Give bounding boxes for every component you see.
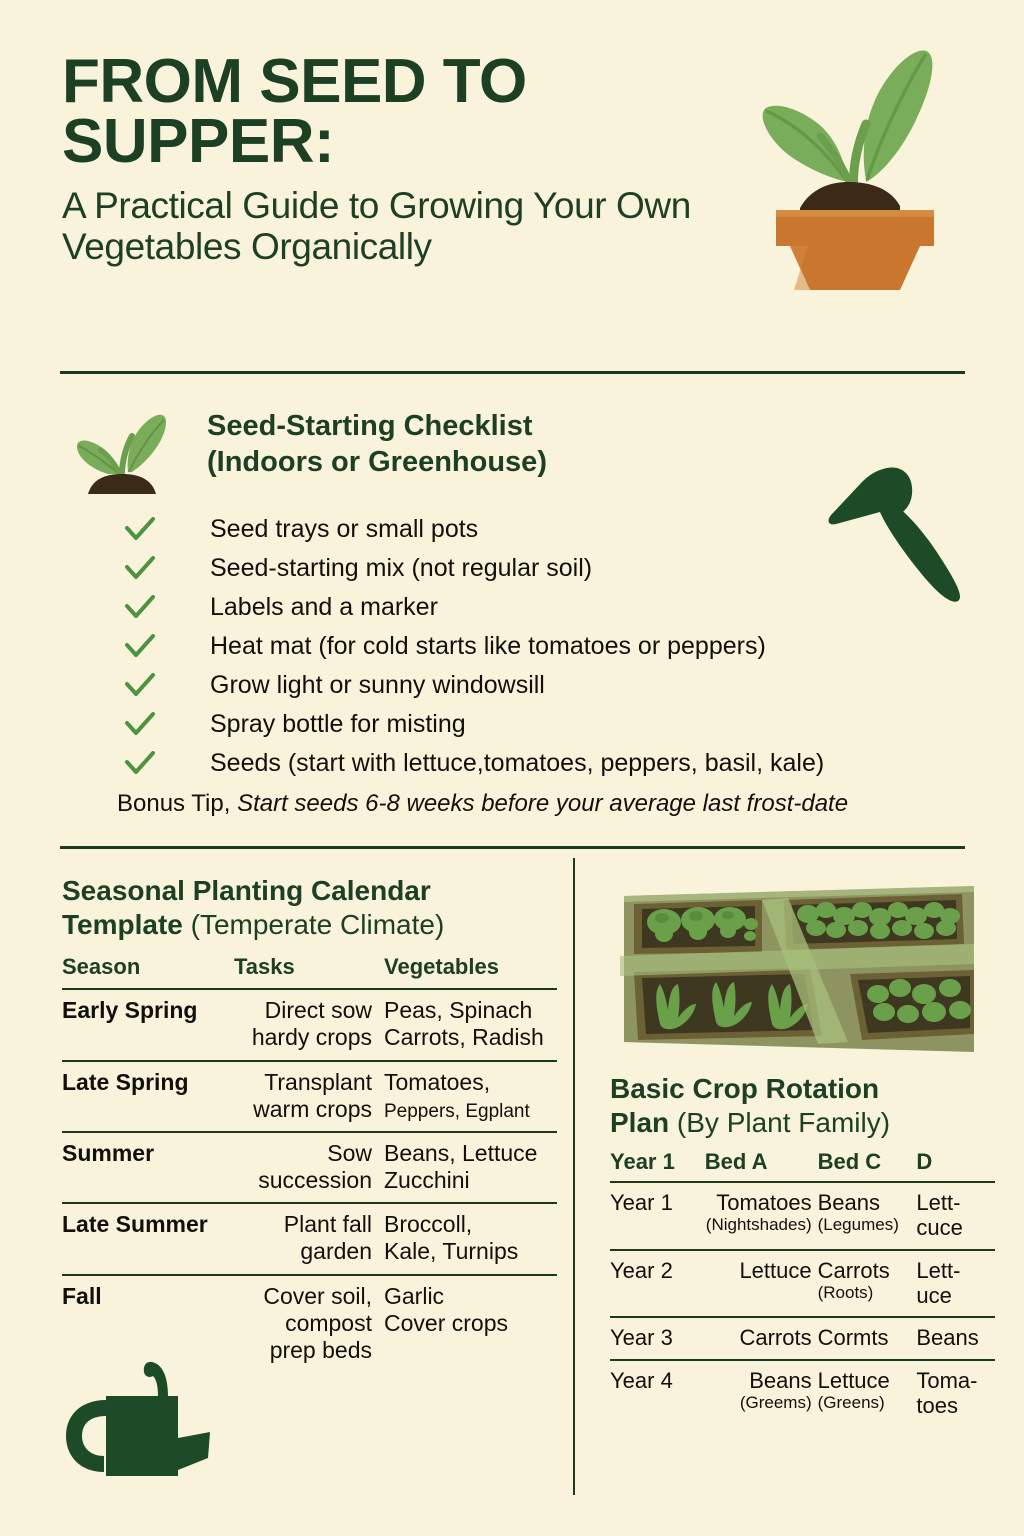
check-icon xyxy=(124,712,156,738)
table-row: Early Spring Direct sow hardy crops Peas… xyxy=(62,989,557,1060)
calendar-table: Season Tasks Vegetables Early Spring Dir… xyxy=(62,954,557,1372)
table-row: Year 1 Tomatoes (Nightshades) Beans (Leg… xyxy=(610,1182,995,1250)
check-icon xyxy=(124,751,156,777)
bed-c-crop: Beans xyxy=(818,1190,880,1215)
checklist-heading: Seed-Starting Checklist (Indoors or Gree… xyxy=(207,408,727,481)
table-row: Late Summer Plant fall garden Broccoll, … xyxy=(62,1203,557,1274)
bed-c-crop: Carrots xyxy=(818,1258,890,1283)
veg-line-2: Cover crops xyxy=(384,1310,508,1336)
cell-season: Late Summer xyxy=(62,1203,234,1274)
column-header-bed-a: Bed A xyxy=(705,1149,818,1182)
cell-bed-a: Lettuce xyxy=(705,1250,818,1318)
calendar-heading: Seasonal Planting Calendar Template (Tem… xyxy=(62,874,562,942)
list-item[interactable]: Spray bottle for misting xyxy=(112,705,962,744)
bed-a-crop: Carrots xyxy=(739,1325,811,1350)
cell-bed-d: Lett-cuce xyxy=(916,1182,995,1250)
divider-middle xyxy=(60,846,965,849)
bonus-tip-text: Start seeds 6-8 weeks before your averag… xyxy=(237,790,848,817)
checklist-item-label: Seed trays or small pots xyxy=(210,515,478,543)
veg-line-1: Broccoll, xyxy=(384,1211,472,1237)
bed-a-crop: Beans xyxy=(749,1368,811,1393)
table-row: Year 4 Beans (Greems) Lettuce (Greens) T… xyxy=(610,1360,995,1427)
table-header-row: Year 1 Bed A Bed C D xyxy=(610,1149,995,1182)
bed-c-family: (Roots) xyxy=(818,1283,913,1303)
cell-bed-d: Lett-uce xyxy=(916,1250,995,1318)
rotation-heading: Basic Crop Rotation Plan (By Plant Famil… xyxy=(610,1072,1010,1139)
table-row: Summer Sow succession Beans, Lettuce Zuc… xyxy=(62,1132,557,1203)
cell-year: Year 2 xyxy=(610,1250,705,1318)
watering-can-icon xyxy=(58,1348,258,1498)
bed-a-family: (Nightshades) xyxy=(705,1215,812,1235)
checklist-heading-line2: (Indoors or Greenhouse) xyxy=(207,446,547,478)
divider-vertical xyxy=(573,858,575,1495)
cell-vegetables: Beans, Lettuce Zucchini xyxy=(384,1132,557,1203)
calendar-heading-line2-bold: Template xyxy=(62,909,183,940)
veg-line-2: Kale, Turnips xyxy=(384,1238,518,1264)
bed-a-family: (Greems) xyxy=(705,1393,812,1413)
check-icon xyxy=(124,556,156,582)
cell-vegetables: Peas, Spinach Carrots, Radish xyxy=(384,989,557,1060)
bed-c-family: (Legumes) xyxy=(818,1215,913,1235)
cell-tasks: Transplant warm crops xyxy=(234,1061,384,1133)
seasonal-planting-calendar-section: Seasonal Planting Calendar Template (Tem… xyxy=(62,874,562,1372)
bonus-tip: Bonus Tip, Start seeds 6-8 weeks before … xyxy=(117,790,848,818)
cell-vegetables: Garlic Cover crops xyxy=(384,1275,557,1372)
cell-bed-c: Carrots (Roots) xyxy=(818,1250,917,1318)
cell-tasks: Plant fall garden xyxy=(234,1203,384,1274)
bed-c-crop: Lettuce xyxy=(818,1368,890,1393)
potted-plant-icon xyxy=(748,40,968,290)
cell-bed-c: Cormts xyxy=(818,1317,917,1359)
cell-bed-c: Beans (Legumes) xyxy=(818,1182,917,1250)
rotation-heading-line2-light: (By Plant Family) xyxy=(677,1107,890,1138)
cell-season: Late Spring xyxy=(62,1061,234,1133)
list-item[interactable]: Heat mat (for cold starts like tomatoes … xyxy=(112,627,962,666)
cell-year: Year 4 xyxy=(610,1360,705,1427)
bed-c-family: (Greens) xyxy=(818,1393,913,1413)
veg-line-1: Beans, Lettuce xyxy=(384,1140,537,1166)
rotation-heading-line1: Basic Crop Rotation xyxy=(610,1073,879,1104)
column-header-tasks: Tasks xyxy=(234,954,384,989)
column-header-year: Year 1 xyxy=(610,1149,705,1182)
bed-a-crop: Tomatoes xyxy=(716,1190,811,1215)
cell-vegetables: Tomatoes, Peppers, Egplant xyxy=(384,1061,557,1133)
page-title: FROM SEED TO SUPPER: xyxy=(62,52,742,171)
cell-tasks: Direct sow hardy crops xyxy=(234,989,384,1060)
trowel-icon xyxy=(822,452,982,607)
column-header-bed-c: Bed C xyxy=(818,1149,917,1182)
veg-line-2: Carrots, Radish xyxy=(384,1024,544,1050)
calendar-heading-line1: Seasonal Planting Calendar xyxy=(62,875,431,906)
column-header-bed-d: D xyxy=(916,1149,995,1182)
divider-top xyxy=(60,371,965,374)
cell-vegetables: Broccoll, Kale, Turnips xyxy=(384,1203,557,1274)
checklist-item-label: Spray bottle for misting xyxy=(210,710,466,738)
cell-year: Year 1 xyxy=(610,1182,705,1250)
check-icon xyxy=(124,517,156,543)
seedling-icon xyxy=(74,408,170,500)
table-row: Late Spring Transplant warm crops Tomato… xyxy=(62,1061,557,1133)
calendar-heading-line2-light: (Temperate Climate) xyxy=(191,909,445,940)
infographic-page: FROM SEED TO SUPPER: A Practical Guide t… xyxy=(0,0,1024,1536)
bed-c-crop: Cormts xyxy=(818,1325,889,1350)
crop-rotation-section: Basic Crop Rotation Plan (By Plant Famil… xyxy=(610,1072,1000,1426)
cell-bed-a: Beans (Greems) xyxy=(705,1360,818,1427)
check-icon xyxy=(124,634,156,660)
table-header-row: Season Tasks Vegetables xyxy=(62,954,557,989)
list-item[interactable]: Grow light or sunny windowsill xyxy=(112,666,962,705)
cell-bed-d: Beans xyxy=(916,1317,995,1359)
raised-garden-beds-illustration xyxy=(612,884,974,1056)
column-header-vegetables: Vegetables xyxy=(384,954,557,989)
cell-season: Early Spring xyxy=(62,989,234,1060)
veg-line-1: Garlic xyxy=(384,1283,444,1309)
rotation-table: Year 1 Bed A Bed C D Year 1 Tomatoes (Ni… xyxy=(610,1149,995,1426)
bonus-tip-label: Bonus Tip, xyxy=(117,790,230,817)
veg-line-2: Peppers, Egplant xyxy=(384,1101,530,1122)
cell-year: Year 3 xyxy=(610,1317,705,1359)
check-icon xyxy=(124,673,156,699)
bed-a-crop: Lettuce xyxy=(739,1258,811,1283)
check-icon xyxy=(124,595,156,621)
checklist-heading-line1: Seed-Starting Checklist xyxy=(207,410,533,442)
table-row: Year 2 Lettuce Carrots (Roots) Lett-uce xyxy=(610,1250,995,1318)
cell-bed-d: Toma-toes xyxy=(916,1360,995,1427)
checklist-item-label: Seed-starting mix (not regular soil) xyxy=(210,554,592,582)
list-item[interactable]: Seeds (start with lettuce,tomatoes, pepp… xyxy=(112,744,962,783)
page-subtitle: A Practical Guide to Growing Your Own Ve… xyxy=(62,185,862,268)
checklist-item-label: Labels and a marker xyxy=(210,593,438,621)
cell-bed-c: Lettuce (Greens) xyxy=(818,1360,917,1427)
column-header-season: Season xyxy=(62,954,234,989)
checklist-item-label: Heat mat (for cold starts like tomatoes … xyxy=(210,632,766,660)
checklist-item-label: Seeds (start with lettuce,tomatoes, pepp… xyxy=(210,749,824,777)
cell-bed-a: Carrots xyxy=(705,1317,818,1359)
table-row: Year 3 Carrots Cormts Beans xyxy=(610,1317,995,1359)
checklist-item-label: Grow light or sunny windowsill xyxy=(210,671,545,699)
header: FROM SEED TO SUPPER: A Practical Guide t… xyxy=(62,52,742,268)
rotation-heading-line2-bold: Plan xyxy=(610,1107,669,1138)
cell-tasks: Sow succession xyxy=(234,1132,384,1203)
cell-season: Summer xyxy=(62,1132,234,1203)
veg-line-2: Zucchini xyxy=(384,1167,470,1193)
cell-bed-a: Tomatoes (Nightshades) xyxy=(705,1182,818,1250)
veg-line-1: Tomatoes, xyxy=(384,1069,490,1095)
veg-line-1: Peas, Spinach xyxy=(384,997,532,1023)
